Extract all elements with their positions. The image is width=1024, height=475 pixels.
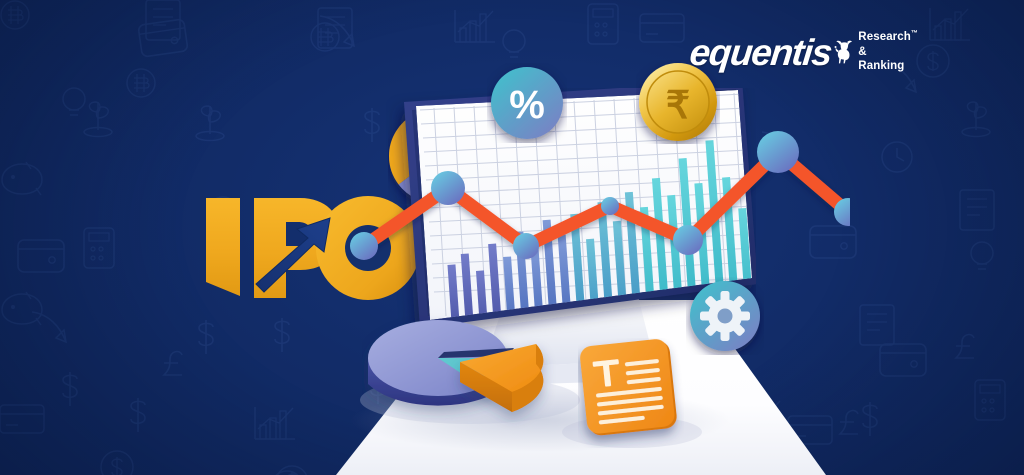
ipo-letter-i: [206, 198, 240, 296]
gear-badge: [686, 277, 764, 355]
tagline-ampersand: &: [858, 45, 918, 59]
trademark-symbol: ™: [911, 31, 918, 38]
brand-logo[interactable]: equentis Research™ & Ranking: [690, 14, 918, 90]
gear-icon: [700, 291, 750, 341]
brand-wordmark: equentis: [688, 34, 833, 71]
banner-canvas: %: [0, 0, 1024, 475]
brand-tagline: Research™ & Ranking: [858, 30, 918, 73]
tagline-ranking: Ranking: [858, 59, 918, 73]
rupee-glyph: ₹: [666, 85, 690, 127]
pie-chart-3d: [362, 296, 582, 436]
document-icon: [578, 338, 684, 448]
tagline-research: Research™: [858, 30, 918, 44]
trend-line-nodes: [350, 131, 850, 260]
percent-glyph: %: [509, 83, 545, 127]
trend-line-series: [330, 120, 850, 320]
bull-icon: [833, 23, 852, 81]
percent-badge: %: [487, 63, 567, 143]
